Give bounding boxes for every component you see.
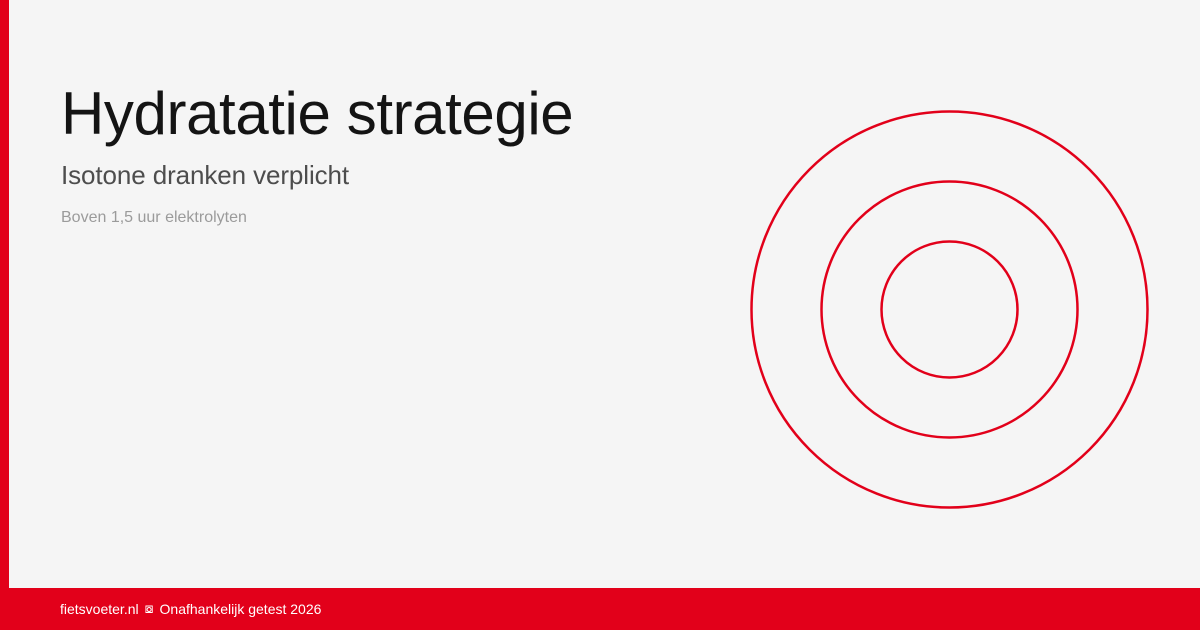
poster-canvas: Hydratatie strategie Isotone dranken ver… [0, 0, 1200, 630]
inner-ring-icon [882, 242, 1018, 378]
footer-separator-icon: ⧇ [145, 600, 154, 618]
concentric-rings-graphic [750, 109, 1150, 511]
footer-tagline: Onafhankelijk getest 2026 [160, 600, 322, 618]
hero-text-block: Hydratatie strategie Isotone dranken ver… [61, 80, 721, 228]
page-subtitle: Isotone dranken verplicht [61, 148, 721, 191]
footer-credit: fietsvoeter.nl ⧇ Onafhankelijk getest 20… [60, 588, 321, 630]
page-title: Hydratatie strategie [61, 80, 721, 148]
footer-site-name: fietsvoeter.nl [60, 600, 139, 618]
footer-bar: fietsvoeter.nl ⧇ Onafhankelijk getest 20… [0, 588, 1200, 630]
outer-ring-icon [752, 112, 1148, 508]
page-tertiary-note: Boven 1,5 uur elektrolyten [61, 191, 721, 228]
middle-ring-icon [822, 182, 1078, 438]
left-accent-bar [0, 0, 9, 630]
